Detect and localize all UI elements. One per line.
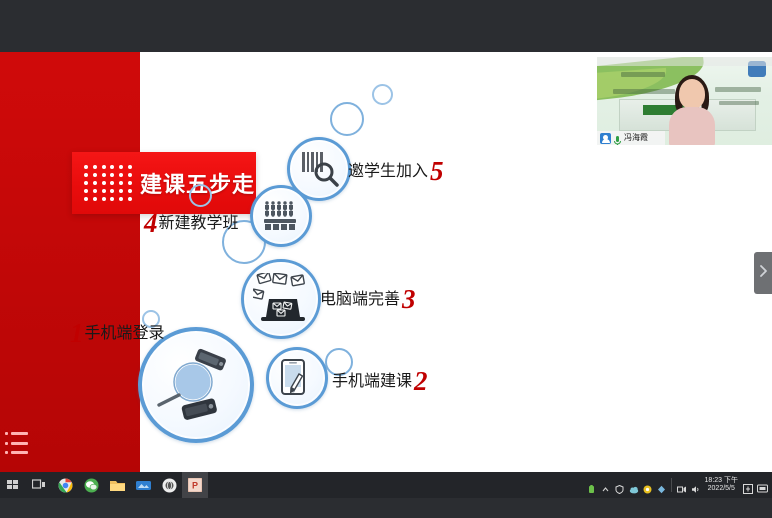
step-5-text: 邀学生加入 [348, 164, 428, 180]
classroom-crowd-icon [262, 199, 300, 233]
presenter-head [679, 79, 705, 109]
chevron-right-icon [759, 264, 768, 283]
phone-pencil-icon [277, 358, 317, 398]
step-2-number: 2 [414, 368, 428, 395]
network-icon[interactable] [677, 481, 686, 490]
step-1-label: 1 手机端登录 [70, 320, 165, 347]
step-2-bubble[interactable] [266, 347, 328, 409]
cloud-icon[interactable] [629, 481, 638, 490]
step-1-number: 1 [70, 320, 84, 347]
video-scene-text [719, 101, 759, 105]
list-menu-icon [5, 430, 31, 456]
notifications-icon[interactable] [757, 481, 766, 490]
taskbar-app-list: P [0, 472, 208, 498]
microphone-icon [613, 133, 622, 144]
windows-taskbar: P [0, 472, 772, 518]
step-3-bubble[interactable] [241, 259, 321, 339]
step-4-bubble[interactable] [250, 185, 312, 247]
step-2-label: 手机端建课 2 [332, 368, 428, 395]
video-toolbar [597, 57, 772, 66]
slide-title-banner: 建课五步走 [72, 152, 256, 214]
browser-icon[interactable] [156, 472, 182, 498]
step-3-number: 3 [402, 286, 416, 313]
chevron-up-icon[interactable] [601, 481, 610, 490]
presenter-name: 冯海霞 [624, 134, 648, 142]
laptop-envelopes-icon [253, 273, 309, 325]
video-scene-text [715, 87, 761, 92]
magnifier-phones-icon [153, 342, 239, 428]
next-slide-button[interactable] [754, 252, 772, 294]
decorative-bubble [330, 102, 364, 136]
chrome-icon[interactable] [52, 472, 78, 498]
step-4-number: 4 [144, 210, 158, 237]
svg-text:P: P [192, 481, 198, 491]
user-avatar-icon [600, 133, 611, 144]
security-icon[interactable] [615, 481, 624, 490]
file-explorer-icon[interactable] [104, 472, 130, 498]
presenter-figure [665, 79, 719, 145]
meeting-app-icon[interactable] [130, 472, 156, 498]
wechat-icon[interactable] [78, 472, 104, 498]
step-5-label: 邀学生加入 5 [348, 158, 444, 185]
barcode-search-icon [299, 150, 339, 188]
step-3-label: 电脑端完善 3 [320, 286, 416, 313]
dot-grid-icon [82, 164, 134, 202]
screen-root: 建课五步走 邀学生加入 5 [0, 0, 772, 518]
step-4-label: 4 新建教学班 [144, 210, 239, 237]
step-2-text: 手机端建课 [332, 374, 412, 390]
step-5-number: 5 [430, 158, 444, 185]
presenter-name-bar: 冯海霞 [597, 131, 665, 145]
battery-icon[interactable] [587, 481, 596, 490]
clock-time: 18:23 下午 [705, 477, 738, 485]
presenter-video-thumbnail[interactable]: 冯海霞 [597, 57, 772, 145]
tray-divider [671, 478, 672, 492]
start-icon[interactable] [0, 472, 26, 498]
step-3-text: 电脑端完善 [320, 292, 400, 308]
input-method-icon[interactable] [743, 481, 752, 490]
slide-red-sidebar [0, 52, 140, 472]
shield-icon[interactable] [643, 481, 652, 490]
step-1-text: 手机端登录 [85, 326, 165, 342]
clock-date: 2022/5/5 [705, 485, 738, 493]
system-tray: 18:23 下午 2022/5/5 [587, 472, 772, 498]
presenter-body [669, 107, 715, 145]
step-4-text: 新建教学班 [159, 216, 239, 232]
volume-icon[interactable] [691, 481, 700, 490]
decorative-bubble [189, 184, 212, 207]
decorative-bubble [372, 84, 393, 105]
diamond-icon[interactable] [657, 481, 666, 490]
taskbar-clock[interactable]: 18:23 下午 2022/5/5 [705, 477, 738, 493]
powerpoint-icon[interactable]: P [182, 472, 208, 498]
task-view-icon[interactable] [26, 472, 52, 498]
video-scene-text [621, 72, 665, 77]
